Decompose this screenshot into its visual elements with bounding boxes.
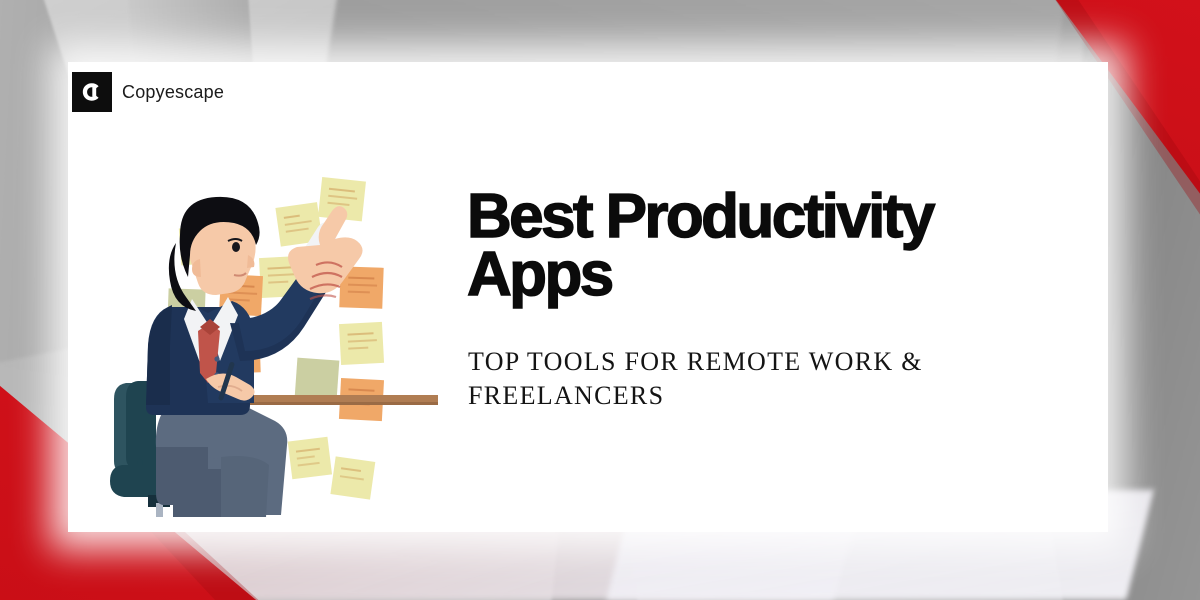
brand-name: Copyescape bbox=[122, 82, 224, 103]
brand-logo[interactable]: Copyescape bbox=[72, 72, 224, 112]
page-subtitle: Top tools for remote work & freelancers bbox=[468, 345, 1068, 414]
hero-illustration bbox=[88, 147, 438, 517]
banner-canvas: Copyescape bbox=[0, 0, 1200, 600]
title-line-2: Apps bbox=[467, 240, 612, 309]
page-title: Best Productivity Apps bbox=[467, 188, 1027, 305]
white-content-card: Copyescape bbox=[68, 62, 1108, 532]
copyescape-c-mark-icon bbox=[72, 72, 112, 112]
